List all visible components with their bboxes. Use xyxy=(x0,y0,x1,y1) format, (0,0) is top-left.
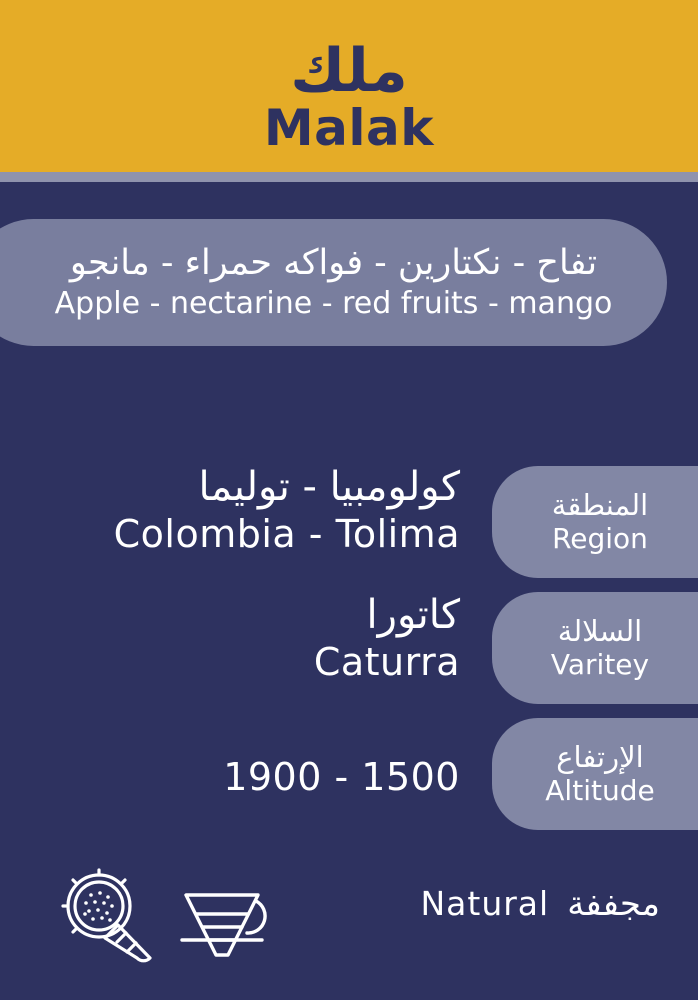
altitude-tag-arabic: الإرتفاع xyxy=(556,741,643,774)
region-tag: المنطقة Region xyxy=(492,466,698,578)
coffee-label: ملك Malak تفاح - نكتارين - فواكه حمراء -… xyxy=(0,0,698,1000)
flavour-notes-english: Apple - nectarine - red fruits - mango xyxy=(55,286,613,322)
variety-tag: السلالة Varitey xyxy=(492,592,698,704)
region-tag-arabic: المنطقة xyxy=(552,489,648,522)
variety-value-english: Caturra xyxy=(314,640,460,686)
process-arabic: مجففة xyxy=(567,884,660,924)
altitude-value: 1900 - 1500 xyxy=(223,755,460,801)
region-value-arabic: كولومبيا - توليما xyxy=(114,462,460,512)
variety-tag-english: Varitey xyxy=(551,648,649,682)
flavour-notes-arabic: تفاح - نكتارين - فواكه حمراء - مانجو xyxy=(70,243,597,283)
process-english: Natural xyxy=(420,884,549,923)
process-method: Natural مجففة xyxy=(420,884,660,924)
brew-methods xyxy=(58,868,276,970)
region-value-english: Colombia - Tolima xyxy=(114,512,460,558)
pour-over-cup-icon xyxy=(176,882,276,970)
brand-name-english: Malak xyxy=(264,102,434,155)
flavour-notes-pill: تفاح - نكتارين - فواكه حمراء - مانجو App… xyxy=(0,219,667,346)
brand-header: ملك Malak xyxy=(0,0,698,172)
variety-value-arabic: كاتورا xyxy=(314,590,460,640)
variety-tag-arabic: السلالة xyxy=(558,615,642,648)
region-tag-english: Region xyxy=(552,522,648,556)
altitude-tag-english: Altitude xyxy=(545,774,654,808)
portafilter-icon xyxy=(58,868,162,970)
altitude-tag: الإرتفاع Altitude xyxy=(492,718,698,830)
altitude-value-english: 1900 - 1500 xyxy=(223,755,460,801)
header-divider xyxy=(0,172,698,182)
brand-name-arabic: ملك xyxy=(290,43,408,100)
region-value: كولومبيا - توليما Colombia - Tolima xyxy=(114,462,460,558)
variety-value: كاتورا Caturra xyxy=(314,590,460,686)
